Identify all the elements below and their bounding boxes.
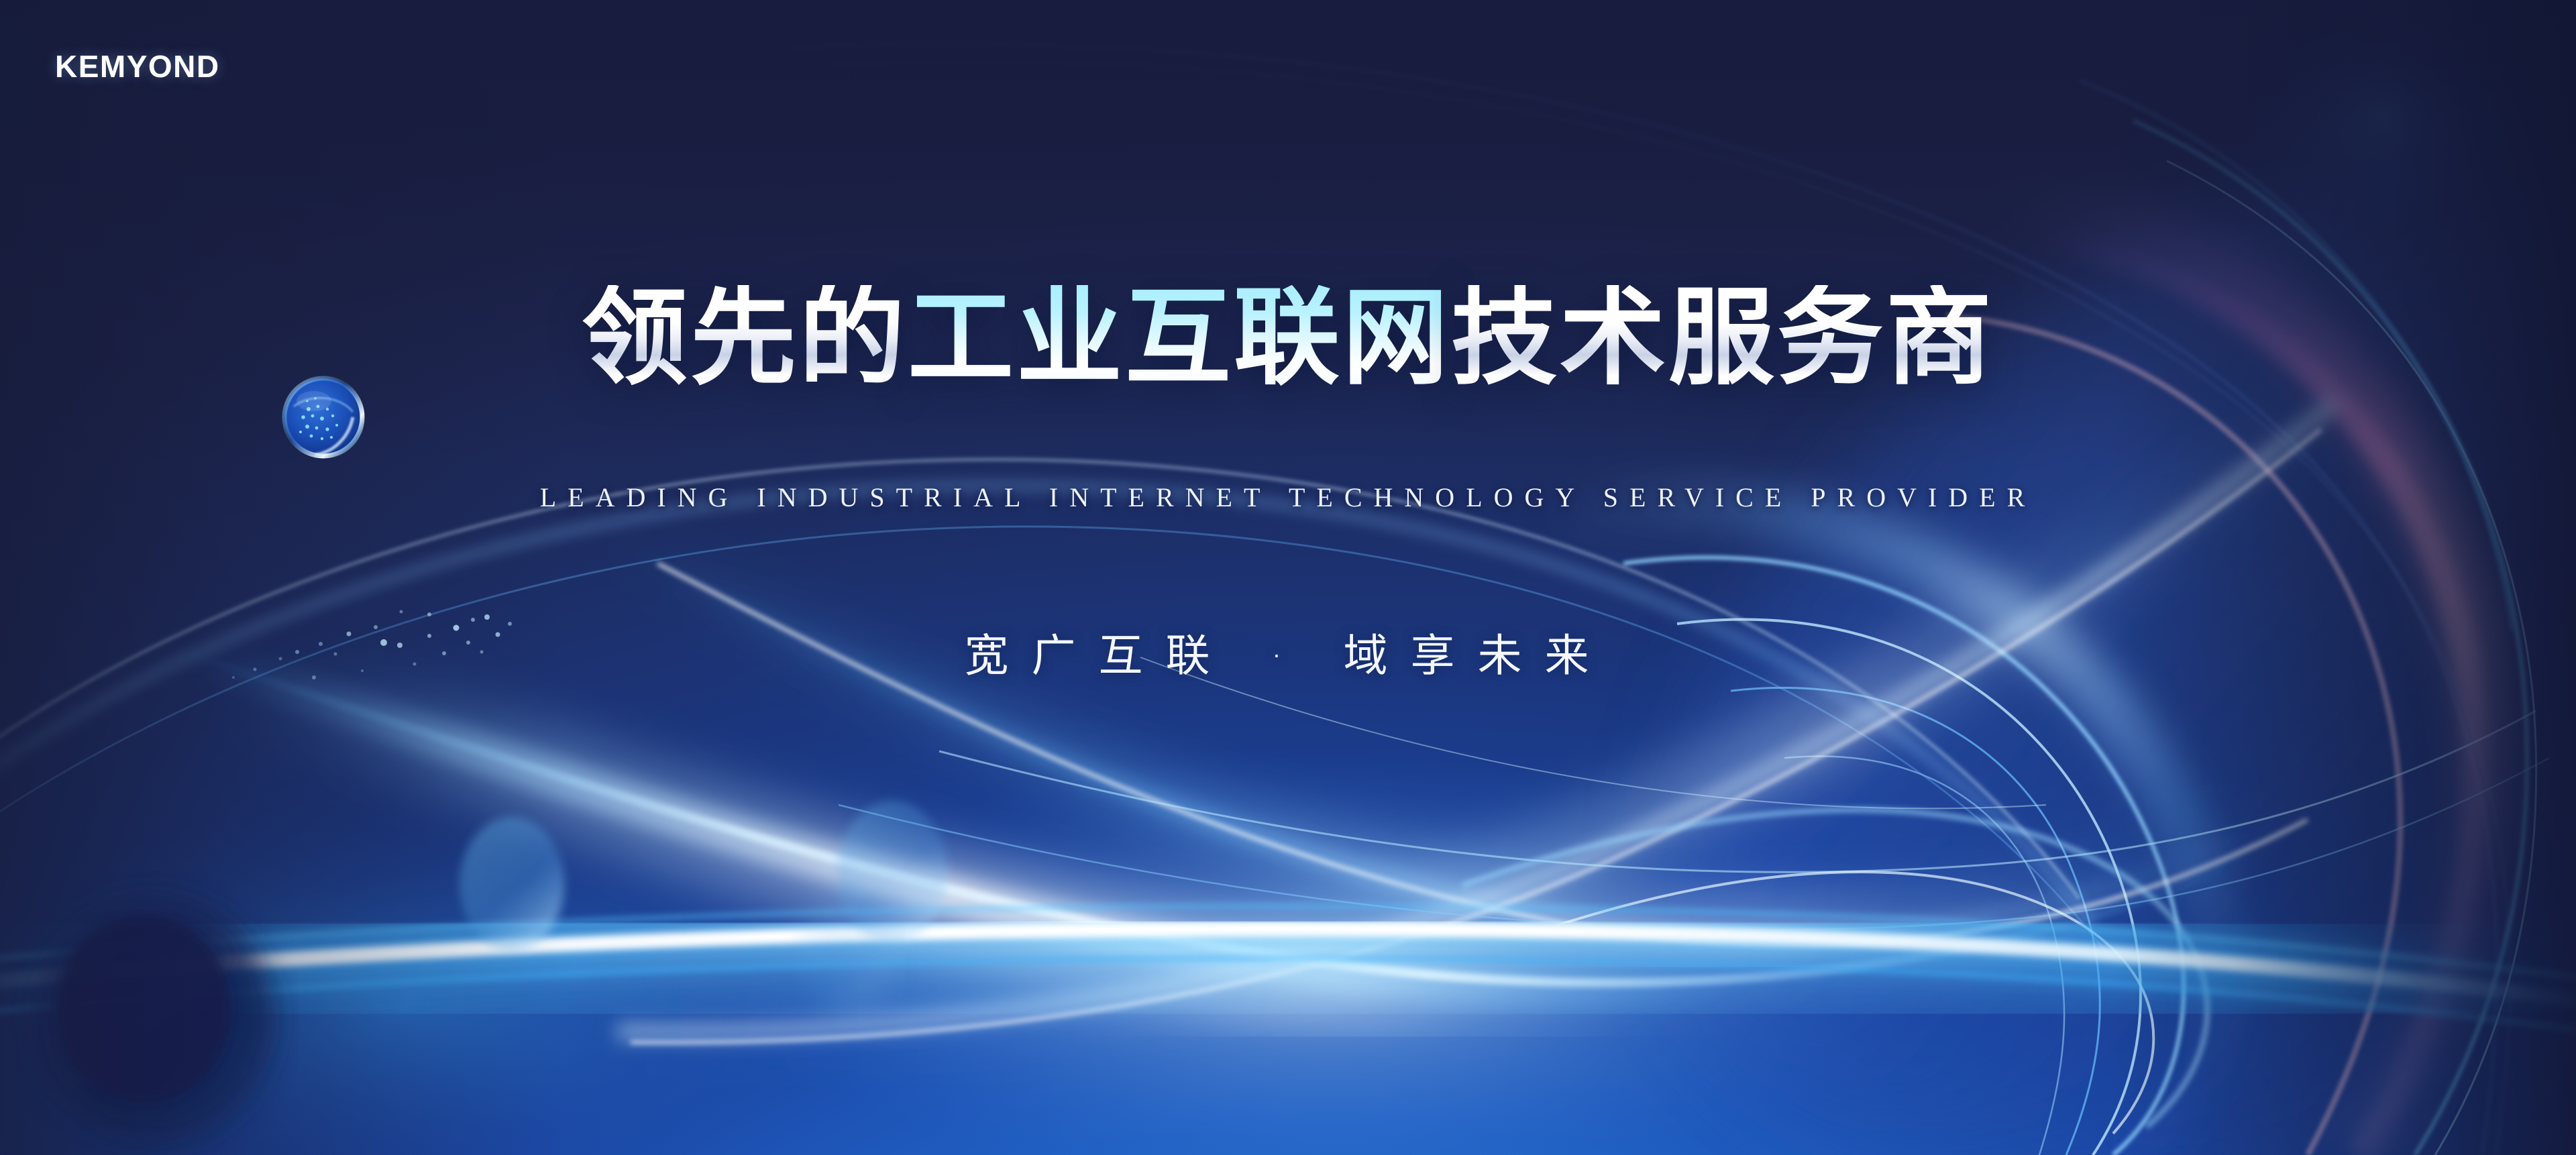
headline-part-highlight: 工业互联网: [908, 285, 1451, 391]
light-ribbon-swirl: [0, 0, 2576, 1155]
vignette-top-overlay: [0, 0, 2576, 1155]
vignette-right-overlay: [0, 0, 2576, 1155]
sphere-translucent: [837, 801, 947, 943]
corner-glow: [0, 0, 2576, 1155]
vignette-left-overlay: [0, 0, 2576, 1155]
sphere-group: [0, 0, 2576, 1155]
sphere-dark-core: [57, 916, 231, 1103]
brand-logo[interactable]: KEMYOND: [55, 48, 220, 85]
headline-part-tail: 技术服务商: [1451, 285, 1994, 391]
text-block: 领先的工业互联网技术服务商 LEADING INDUSTRIAL INTERNE…: [0, 0, 2576, 1155]
tagline-slogan: 宽广互联 · 域享未来: [0, 620, 2576, 684]
particle-dots: [0, 0, 2576, 1155]
headline-part-lead: 领先的: [582, 285, 908, 391]
sphere-translucent: [802, 891, 896, 1014]
light-ribbon-center: [0, 0, 2576, 1155]
horizontal-light-beam: [0, 0, 2576, 1155]
sphere-dark: [34, 895, 275, 1144]
page-title: 领先的工业互联网技术服务商: [0, 285, 2576, 391]
sphere-translucent: [460, 817, 564, 951]
globe-sphere-icon: [274, 368, 373, 467]
subtitle-english: LEADING INDUSTRIAL INTERNET TECHNOLOGY S…: [0, 482, 2576, 513]
banner-canvas: KEMYOND 领先的工业互联网技术服务商 LEADING INDUSTRIAL…: [0, 0, 2576, 1155]
